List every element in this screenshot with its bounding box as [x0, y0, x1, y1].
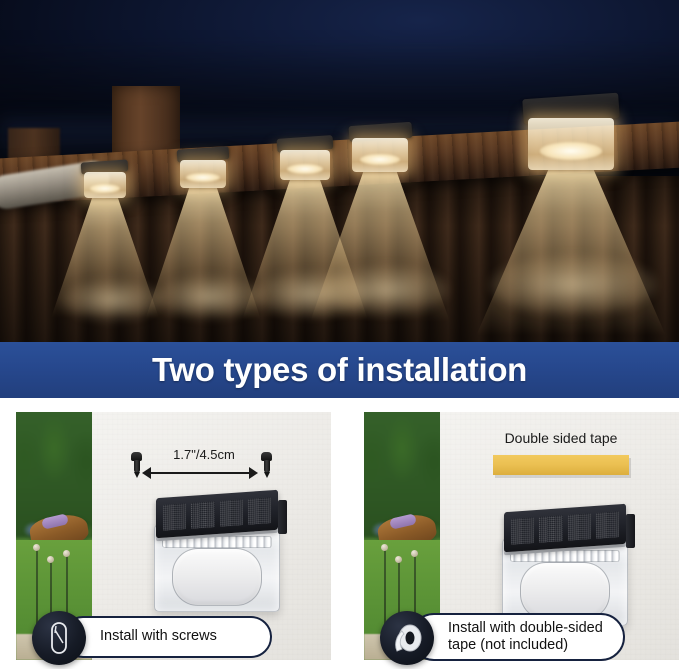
install-method-pill-screws[interactable]: Install with screws: [62, 616, 272, 658]
install-method-label: Install with screws: [100, 628, 217, 645]
dimension-line: [150, 472, 256, 474]
screw-icon: [260, 452, 273, 478]
solar-cell: [163, 503, 186, 531]
install-method-pill-tape[interactable]: Install with double-sided tape (not incl…: [410, 613, 625, 661]
light-pool-5: [490, 256, 656, 314]
deck-light-4: [352, 138, 408, 172]
light-stake-head: [411, 550, 418, 557]
section-banner: Two types of installation: [0, 342, 679, 398]
light-stake-head: [395, 556, 402, 563]
hero-photo: [0, 0, 679, 342]
light-pool-1: [62, 280, 162, 320]
solar-cell: [248, 497, 271, 525]
light-stake-head: [63, 550, 70, 557]
label-group-screws: Install with screws: [16, 607, 331, 669]
solar-cell: [539, 515, 562, 543]
screw-badge: [32, 611, 86, 665]
solar-cell: [220, 499, 243, 527]
product-mount-clip: [626, 514, 635, 548]
tape-callout: Double sided tape: [466, 430, 656, 475]
product-solar-panel: [156, 490, 278, 539]
product-lens: [172, 548, 262, 606]
screw-tip: [264, 472, 270, 478]
deck-light-5: [528, 118, 614, 170]
solar-cells: [163, 497, 271, 531]
solar-cell: [568, 513, 591, 541]
lamp-hotspot: [540, 142, 602, 160]
install-method-label: Install with double-sided tape (not incl…: [448, 620, 603, 654]
tape-label: Double sided tape: [466, 430, 656, 446]
tape-roll-icon: [390, 623, 424, 653]
dimension-callout: 1.7"/4.5cm: [128, 450, 278, 484]
solar-cell: [596, 511, 619, 539]
screw-icon: [46, 621, 72, 655]
light-stake-head: [381, 544, 388, 551]
banner-title: Two types of installation: [152, 351, 527, 389]
product-image-screws: [148, 490, 284, 612]
screw-icon: [130, 452, 143, 478]
dimension-label: 1.7"/4.5cm: [154, 447, 254, 462]
solar-cell: [511, 517, 534, 545]
double-sided-tape-strip: [493, 455, 629, 475]
deck-light-1: [84, 172, 126, 198]
solar-cells: [511, 511, 619, 545]
product-solar-panel: [504, 504, 626, 553]
arrow-left-icon: [142, 467, 151, 479]
lamp-hotspot: [90, 184, 120, 193]
lamp-hotspot: [360, 154, 400, 166]
label-group-tape: Install with double-sided tape (not incl…: [364, 607, 679, 669]
solar-cell: [191, 501, 214, 529]
install-method-label-line2: tape (not included): [448, 637, 603, 654]
light-pool-4: [324, 266, 448, 314]
deck-light-2: [180, 160, 226, 188]
install-method-label-line1: Install with double-sided: [448, 620, 603, 636]
lamp-hotspot: [287, 164, 323, 174]
light-stake-head: [33, 544, 40, 551]
product-mount-clip: [278, 500, 287, 534]
light-stake-head: [47, 556, 54, 563]
tape-badge: [380, 611, 434, 665]
installation-cards: 1.7"/4.5cm: [0, 398, 679, 669]
screw-tip: [134, 472, 140, 478]
deck-light-3: [280, 150, 330, 180]
arrow-right-icon: [249, 467, 258, 479]
